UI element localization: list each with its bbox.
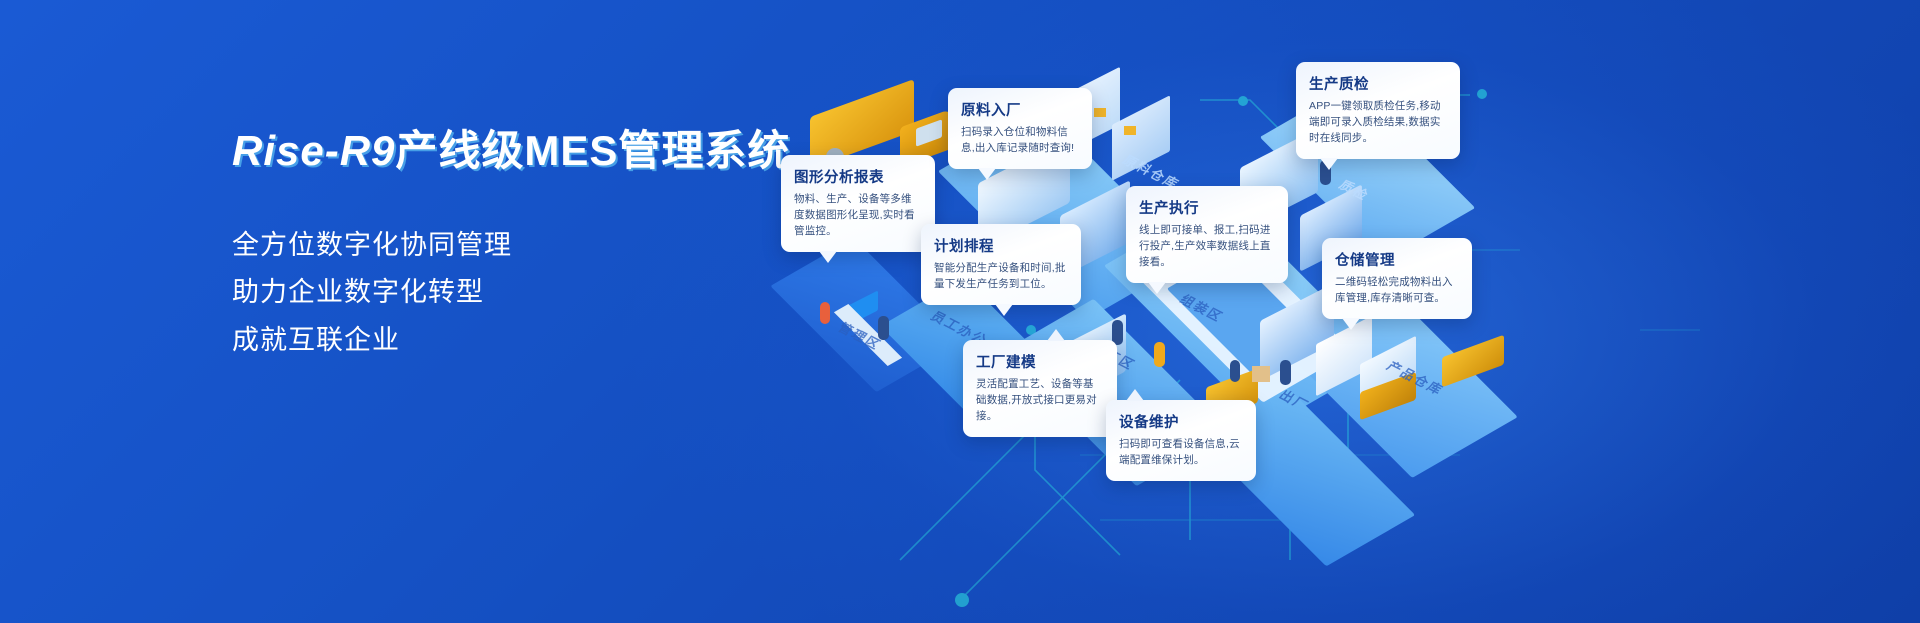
callout-body: 物料、生产、设备等多维度数据图形化呈现,实时看管监控。 xyxy=(794,192,922,240)
callout-equipment-maintenance[interactable]: 设备维护 扫码即可查看设备信息,云端配置维保计划。 xyxy=(1106,400,1256,481)
callout-tail xyxy=(1320,158,1338,170)
callout-title: 仓储管理 xyxy=(1335,249,1459,270)
callout-body: 扫码即可查看设备信息,云端配置维保计划。 xyxy=(1119,437,1243,469)
hero-text-block: Rise-R9产线级MES管理系统 全方位数字化协同管理 助力企业数字化转型 成… xyxy=(232,128,792,364)
callout-title: 原料入厂 xyxy=(961,99,1079,120)
package-box-icon xyxy=(1124,126,1136,135)
product-subtitle-cjk: 产线级MES管理系统 xyxy=(395,127,790,174)
hero-subtitle-list: 全方位数字化协同管理 助力企业数字化转型 成就互联企业 xyxy=(232,222,792,364)
callout-title: 计划排程 xyxy=(934,235,1068,256)
callout-title: 图形分析报表 xyxy=(794,166,922,187)
worker-icon xyxy=(1230,360,1240,382)
callout-title: 生产质检 xyxy=(1309,73,1447,94)
callout-tail xyxy=(1342,318,1360,330)
callout-title: 生产执行 xyxy=(1139,197,1275,218)
callout-tail xyxy=(819,251,837,263)
callout-body: APP一键领取质检任务,移动端即可录入质检结果,数据实时在线同步。 xyxy=(1309,99,1447,147)
callout-production-execution[interactable]: 生产执行 线上即可接单、报工,扫码进行投产,生产效率数据线上直接看。 xyxy=(1126,186,1288,283)
hero-banner: Rise-R9产线级MES管理系统 全方位数字化协同管理 助力企业数字化转型 成… xyxy=(0,0,1920,623)
package-box-icon xyxy=(1252,366,1270,382)
product-name: Rise-R9 xyxy=(232,127,395,174)
worker-icon xyxy=(820,302,830,324)
hero-subtitle-2: 助力企业数字化转型 xyxy=(232,269,792,316)
callout-factory-modeling[interactable]: 工厂建模 灵活配置工艺、设备等基础数据,开放式接口更易对接。 xyxy=(963,340,1117,437)
callout-quality-inspection[interactable]: 生产质检 APP一键领取质检任务,移动端即可录入质检结果,数据实时在线同步。 xyxy=(1296,62,1460,159)
callout-tail xyxy=(995,304,1013,316)
callout-body: 线上即可接单、报工,扫码进行投产,生产效率数据线上直接看。 xyxy=(1139,223,1275,271)
callout-body: 智能分配生产设备和时间,批量下发生产任务到工位。 xyxy=(934,261,1068,293)
worker-icon xyxy=(1154,342,1165,367)
callout-tail xyxy=(1047,329,1065,341)
callout-body: 二维码轻松完成物料出入库管理,库存清晰可查。 xyxy=(1335,275,1459,307)
page-title: Rise-R9产线级MES管理系统 xyxy=(232,128,792,174)
callout-body: 扫码录入仓位和物料信息,出入库记录随时查询! xyxy=(961,125,1079,157)
package-box-icon xyxy=(1094,108,1106,117)
callout-plan-scheduling[interactable]: 计划排程 智能分配生产设备和时间,批量下发生产任务到工位。 xyxy=(921,224,1081,305)
callout-warehouse-management[interactable]: 仓储管理 二维码轻松完成物料出入库管理,库存清晰可查。 xyxy=(1322,238,1472,319)
callout-title: 工厂建模 xyxy=(976,351,1104,372)
callout-tail xyxy=(1148,282,1166,294)
callout-tail xyxy=(1126,389,1144,401)
callout-graphic-report[interactable]: 图形分析报表 物料、生产、设备等多维度数据图形化呈现,实时看管监控。 xyxy=(781,155,935,252)
callout-material-inbound[interactable]: 原料入厂 扫码录入仓位和物料信息,出入库记录随时查询! xyxy=(948,88,1092,169)
hero-subtitle-1: 全方位数字化协同管理 xyxy=(232,222,792,269)
callout-title: 设备维护 xyxy=(1119,411,1243,432)
worker-icon xyxy=(1280,360,1291,385)
callout-body: 灵活配置工艺、设备等基础数据,开放式接口更易对接。 xyxy=(976,377,1104,425)
callout-tail xyxy=(978,168,996,180)
hero-subtitle-3: 成就互联企业 xyxy=(232,317,792,364)
